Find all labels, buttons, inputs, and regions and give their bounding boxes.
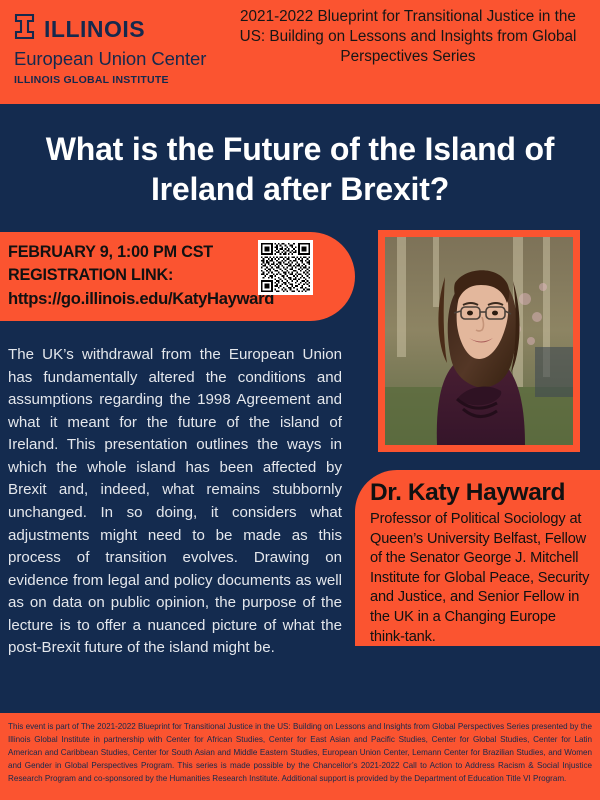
- speaker-portrait: [385, 237, 573, 445]
- speaker-name: Dr. Katy Hayward: [370, 480, 594, 507]
- speaker-panel: Dr. Katy Hayward Professor of Political …: [355, 470, 600, 646]
- speaker-photo-frame: [378, 230, 580, 452]
- european-union-center-label: European Union Center: [14, 47, 220, 70]
- footer-credits: This event is part of The 2021-2022 Blue…: [0, 713, 600, 800]
- illinois-global-institute-label: ILLINOIS GLOBAL INSTITUTE: [14, 74, 220, 86]
- qr-code-icon[interactable]: [258, 240, 313, 295]
- registration-banner[interactable]: FEBRUARY 9, 1:00 PM CST REGISTRATION LIN…: [0, 232, 355, 321]
- page-title: What is the Future of the Island of Irel…: [0, 108, 600, 209]
- illinois-logo-block: ILLINOIS European Union Center ILLINOIS …: [0, 0, 220, 86]
- illinois-block-i-icon: [14, 14, 35, 44]
- illinois-wordmark: ILLINOIS: [44, 18, 145, 41]
- abstract-text: The UK’s withdrawal from the European Un…: [8, 344, 342, 660]
- speaker-bio: Professor of Political Sociology at Quee…: [370, 510, 594, 647]
- series-title: 2021-2022 Blueprint for Transitional Jus…: [220, 0, 600, 68]
- poster-header: ILLINOIS European Union Center ILLINOIS …: [0, 0, 600, 104]
